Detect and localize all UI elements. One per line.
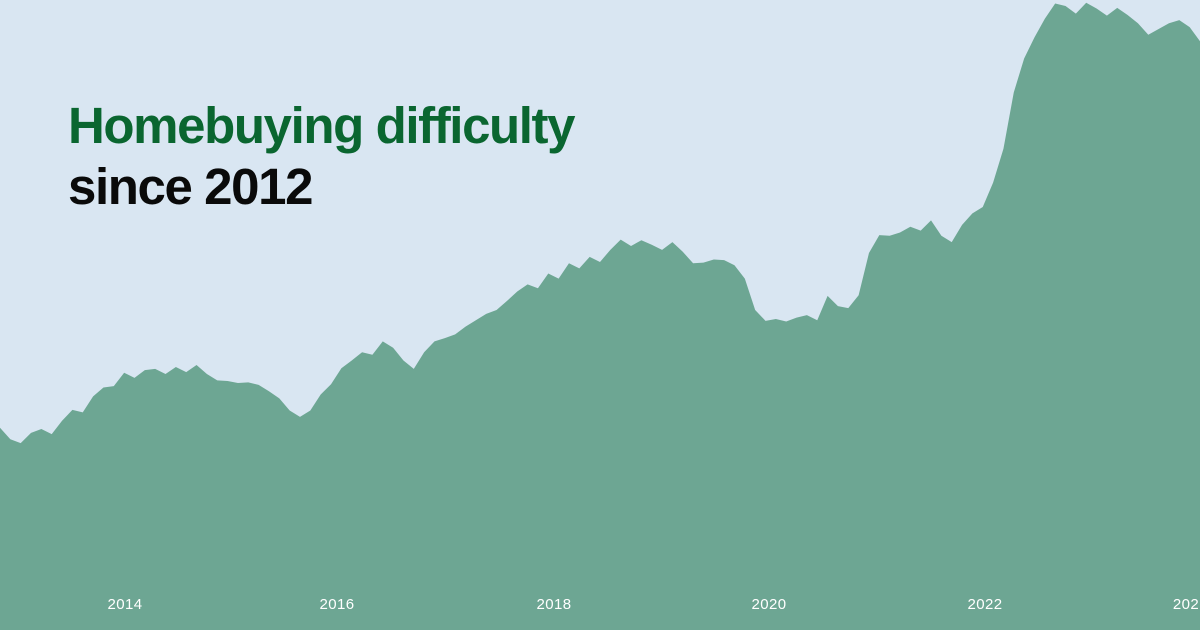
chart-title-block: Homebuying difficulty since 2012 [68, 95, 574, 217]
page-title-line-2: since 2012 [68, 157, 574, 217]
chart-canvas: 20142016201820202022202 Homebuying diffi… [0, 0, 1200, 630]
page-title-line-1: Homebuying difficulty [68, 95, 574, 157]
